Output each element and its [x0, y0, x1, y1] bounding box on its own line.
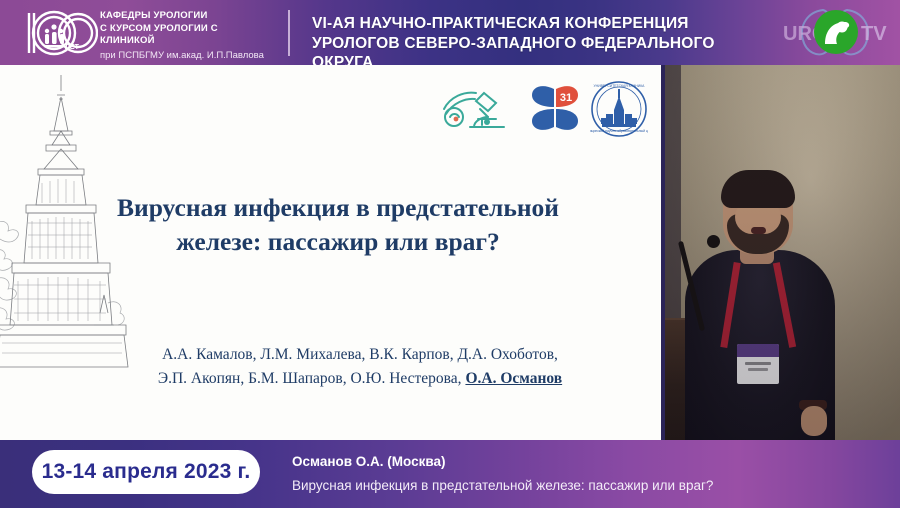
- conference-date-label: 13-14 апреля 2023 г.: [42, 460, 251, 484]
- broadcaster-logo: URO TV: [775, 0, 900, 65]
- broadcast-player: ЛЕТ КАФЕДРЫ УРОЛОГИИ С КУРСОМ УРОЛОГИИ С…: [0, 0, 900, 508]
- caption-talk-title: Вирусная инфекция в предстательной желез…: [292, 476, 872, 495]
- footer-bar: 13-14 апреля 2023 г. Османов О.А. (Москв…: [0, 440, 900, 508]
- svg-text:УНИВЕРСИТЕТСКАЯ КЛИНИКА: УНИВЕРСИТЕТСКАЯ КЛИНИКА: [594, 84, 646, 88]
- conference-header-bar: ЛЕТ КАФЕДРЫ УРОЛОГИИ С КУРСОМ УРОЛОГИИ С…: [0, 0, 900, 65]
- svg-text:ЛЕТ: ЛЕТ: [65, 44, 80, 51]
- conference-title-line-1: VI-АЯ НАУЧНО-ПРАКТИЧЕСКАЯ КОНФЕРЕНЦИЯ: [312, 14, 767, 34]
- clover-number-label: 31: [560, 92, 572, 104]
- department-line-1: КАФЕДРЫ УРОЛОГИИ: [100, 10, 275, 23]
- urotv-wordmark-icon: URO TV: [781, 6, 899, 58]
- department-name: КАФЕДРЫ УРОЛОГИИ С КУРСОМ УРОЛОГИИ С КЛИ…: [100, 10, 275, 62]
- speaker-video-feed[interactable]: [665, 65, 900, 440]
- header-divider: [288, 10, 290, 56]
- authors-line-2: Э.П. Акопян, Б.М. Шапаров, О.Ю. Нестеров…: [120, 367, 600, 391]
- now-playing-caption: Османов О.А. (Москва) Вирусная инфекция …: [292, 452, 872, 495]
- conference-date-badge: 13-14 апреля 2023 г.: [32, 450, 260, 494]
- conference-title-line-2: УРОЛОГОВ СЕВЕРО-ЗАПАДНОГО ФЕДЕРАЛЬНОГО О…: [312, 34, 767, 66]
- conference-title: VI-АЯ НАУЧНО-ПРАКТИЧЕСКАЯ КОНФЕРЕНЦИЯ УР…: [312, 14, 767, 65]
- video-color-tint: [665, 65, 900, 440]
- microscope-lab-logo-icon: [440, 83, 518, 133]
- authors-line-2-prefix: Э.П. Акопян, Б.М. Шапаров, О.Ю. Нестеров…: [158, 370, 466, 387]
- slide-authors: А.А. Камалов, Л.М. Михалева, В.К. Карпов…: [120, 343, 600, 391]
- centenary-100-years-logo: ЛЕТ: [20, 5, 98, 61]
- clover-31-logo-icon: 31: [528, 81, 582, 135]
- authors-line-1: А.А. Камалов, Л.М. Михалева, В.К. Карпов…: [120, 343, 600, 367]
- msu-clinic-seal-logo-icon: УНИВЕРСИТЕТСКАЯ КЛИНИКА Медицинский науч…: [590, 80, 648, 138]
- presenting-author-name: О.А. Османов: [465, 370, 562, 387]
- svg-text:Медицинский научно-образовател: Медицинский научно-образовательный центр: [590, 129, 648, 133]
- department-line-2: С КУРСОМ УРОЛОГИИ С КЛИНИКОЙ: [100, 23, 275, 48]
- slide-title-line-2: железе: пассажир или враг?: [78, 225, 598, 259]
- slide-title: Вирусная инфекция в предстательной желез…: [78, 191, 598, 259]
- slide-title-line-1: Вирусная инфекция в предстательной: [78, 191, 598, 225]
- slide-partner-logos: 31 УНИВЕРСИТЕТСКАЯ КЛИНИКА Медиц: [432, 75, 660, 141]
- presentation-slide: 31 УНИВЕРСИТЕТСКАЯ КЛИНИКА Медиц: [0, 65, 661, 440]
- department-line-3: при ПСПБГМУ им.акад. И.П.Павлова: [100, 49, 275, 62]
- broadcaster-tv-suffix: TV: [861, 23, 887, 45]
- caption-speaker-name: Османов О.А. (Москва): [292, 452, 872, 471]
